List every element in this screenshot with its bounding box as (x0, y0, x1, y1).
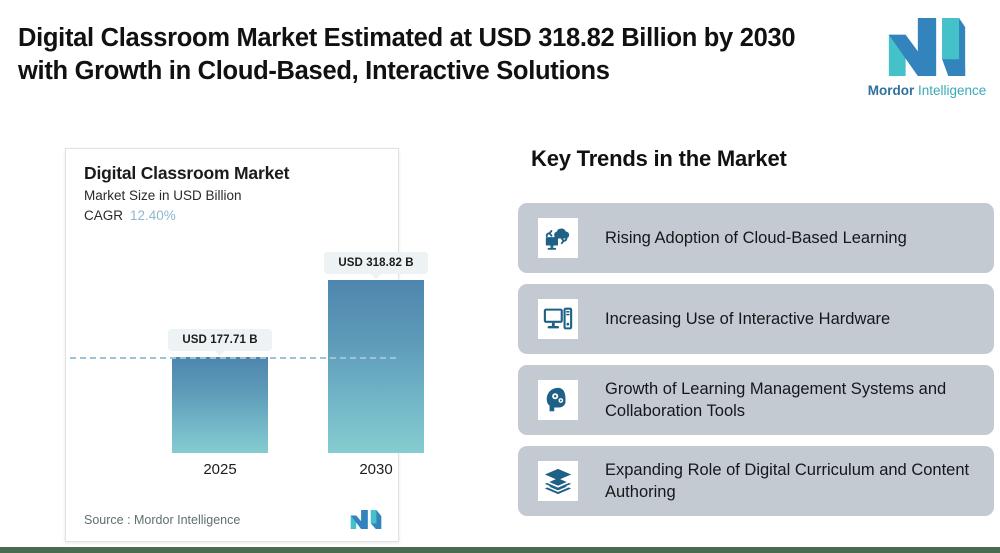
trend-card-interactive-hardware[interactable]: Increasing Use of Interactive Hardware (518, 284, 994, 354)
cagr-value: 12.40% (130, 208, 176, 223)
page-title: Digital Classroom Market Estimated at US… (18, 22, 838, 88)
x-axis-tick-2025: 2025 (170, 461, 270, 478)
bar-value-label: USD 318.82 B (324, 252, 428, 274)
chart-subtitle: Market Size in USD Billion (84, 188, 242, 203)
chart-gridline (70, 357, 396, 359)
cloud-monitor-icon (538, 218, 578, 258)
trend-label: Increasing Use of Interactive Hardware (605, 308, 904, 330)
x-axis-tick-2030: 2030 (326, 461, 426, 478)
trend-label: Growth of Learning Management Systems an… (605, 378, 994, 423)
mordor-m-logo-icon (350, 510, 382, 529)
brand-word-secondary: Intelligence (918, 83, 986, 98)
chart-plot-area: USD 177.71 B2025USD 318.82 B2030 (67, 245, 399, 495)
chart-card: Digital Classroom Market Market Size in … (65, 148, 399, 542)
mordor-m-logo-icon (888, 18, 966, 76)
trends-list: Rising Adoption of Cloud-Based Learning … (518, 203, 994, 527)
trend-card-lms-collaboration[interactable]: Growth of Learning Management Systems an… (518, 365, 994, 435)
trend-label: Expanding Role of Digital Curriculum and… (605, 459, 994, 504)
trend-card-digital-curriculum[interactable]: Expanding Role of Digital Curriculum and… (518, 446, 994, 516)
chart-title: Digital Classroom Market (84, 163, 289, 184)
cagr-label: CAGR (84, 208, 123, 223)
trends-heading: Key Trends in the Market (531, 146, 787, 172)
trend-label: Rising Adoption of Cloud-Based Learning (605, 227, 921, 249)
page-canvas: Digital Classroom Market Estimated at US… (0, 0, 1000, 547)
desktop-tower-icon (538, 299, 578, 339)
bar-2030 (328, 280, 424, 453)
head-gears-icon (538, 380, 578, 420)
stacked-books-icon (538, 461, 578, 501)
chart-source: Source : Mordor Intelligence (84, 513, 240, 527)
brand-wordmark: Mordor Intelligence (868, 83, 987, 98)
bar-value-label: USD 177.71 B (168, 329, 272, 351)
cagr-row: CAGR12.40% (84, 208, 176, 223)
brand-word-primary: Mordor (868, 83, 915, 98)
brand-logo: Mordor Intelligence (858, 4, 996, 112)
bar-2025 (172, 357, 268, 453)
trend-card-cloud-learning[interactable]: Rising Adoption of Cloud-Based Learning (518, 203, 994, 273)
